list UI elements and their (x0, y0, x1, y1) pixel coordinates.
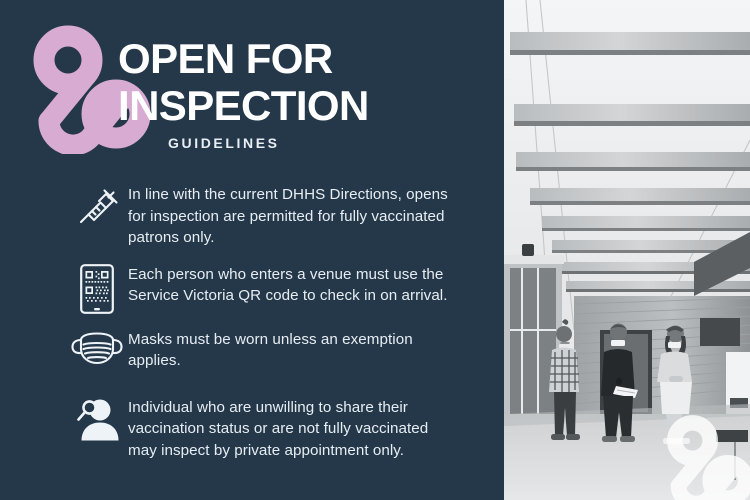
guidelines-list: In line with the current DHHS Directions… (66, 182, 486, 461)
headline-line-1: OPEN FOR (118, 36, 498, 81)
guideline-item: Individual who are unwilling to share th… (66, 395, 486, 462)
poster-header: OPEN FOR INSPECTION GUIDELINES (0, 0, 504, 172)
guideline-text: Masks must be worn unless an exemption a… (128, 327, 454, 372)
syringe-icon (66, 182, 128, 236)
open-for-inspection-poster: OPEN FOR INSPECTION GUIDELINES (0, 0, 750, 500)
guideline-item: Masks must be worn unless an exemption a… (66, 327, 486, 381)
guideline-text: In line with the current DHHS Directions… (128, 182, 454, 249)
left-content-panel: OPEN FOR INSPECTION GUIDELINES (0, 0, 504, 500)
face-mask-icon (66, 327, 128, 381)
headline-line-2: INSPECTION (118, 83, 498, 128)
phone-qr-code-icon (66, 262, 128, 316)
guideline-text: Individual who are unwilling to share th… (128, 395, 454, 462)
veranda-inspection-photo (504, 0, 750, 500)
subheadline: GUIDELINES (168, 135, 498, 151)
person-privacy-icon (66, 395, 128, 449)
guideline-item: In line with the current DHHS Directions… (66, 182, 486, 249)
guideline-item: Each person who enters a venue must use … (66, 262, 486, 316)
guideline-text: Each person who enters a venue must use … (128, 262, 454, 307)
headline-block: OPEN FOR INSPECTION GUIDELINES (118, 36, 498, 151)
